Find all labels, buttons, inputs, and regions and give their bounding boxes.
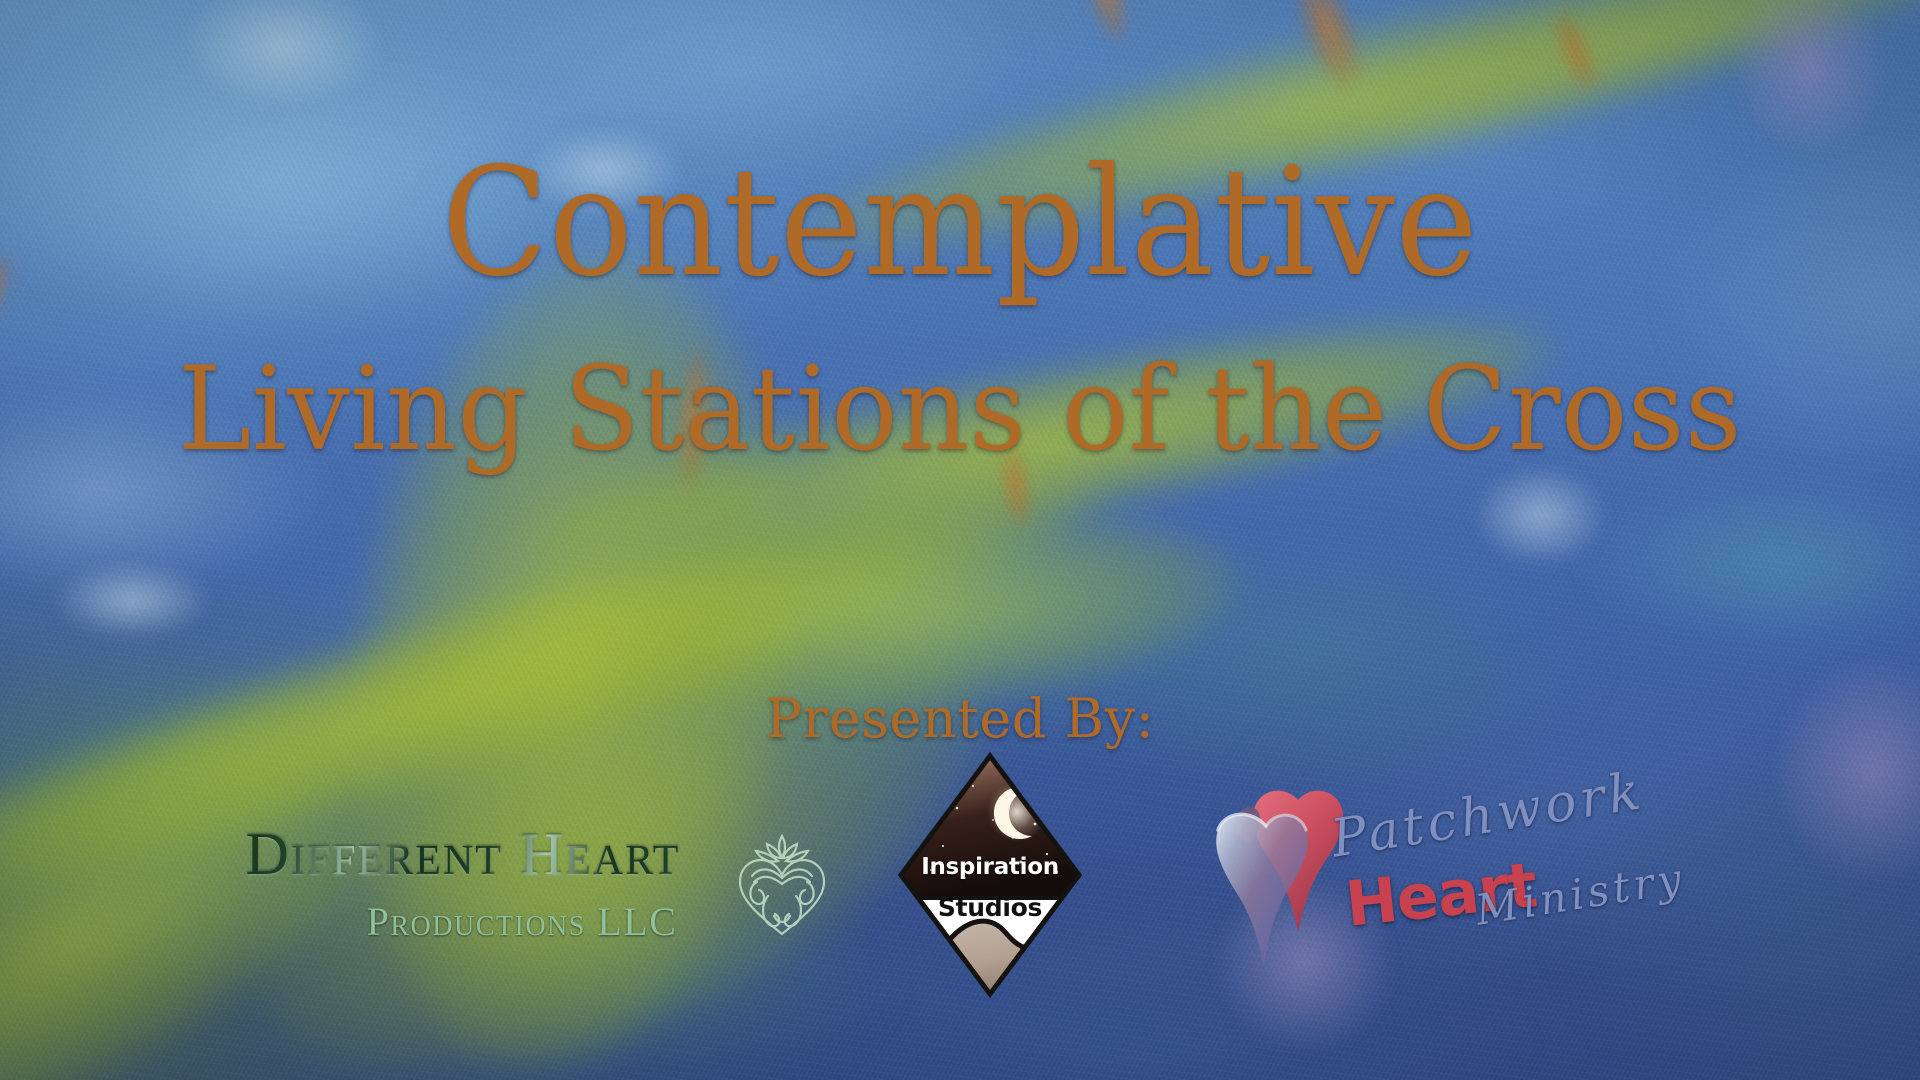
sponsor-logo-inspiration-studios[interactable]: Inspiration Studios — [895, 750, 1085, 1000]
slide-content: Contemplative Living Stations of the Cro… — [0, 0, 1920, 1080]
sponsor-logo-different-heart[interactable]: Different Heart Productions LLC — [208, 818, 838, 968]
page-title-line-1: Contemplative — [67, 148, 1853, 298]
inspiration-studios-line-1: Inspiration — [895, 854, 1085, 880]
inspiration-studios-line-2: Studios — [895, 893, 1085, 922]
page-title-line-2: Living Stations of the Cross — [48, 352, 1872, 468]
presented-by-label: Presented By: — [0, 687, 1920, 750]
celtic-knot-heart-icon — [730, 830, 834, 942]
sponsor-logo-patchwork-heart-ministry[interactable]: Patchwork Heart Ministry — [1206, 782, 1696, 982]
title-slide: Contemplative Living Stations of the Cro… — [0, 0, 1920, 1080]
different-heart-wordmark: Different Heart — [208, 820, 718, 889]
different-heart-tagline: Productions LLC — [326, 898, 718, 945]
sponsor-logo-row: Different Heart Productions LLC — [0, 760, 1920, 1020]
